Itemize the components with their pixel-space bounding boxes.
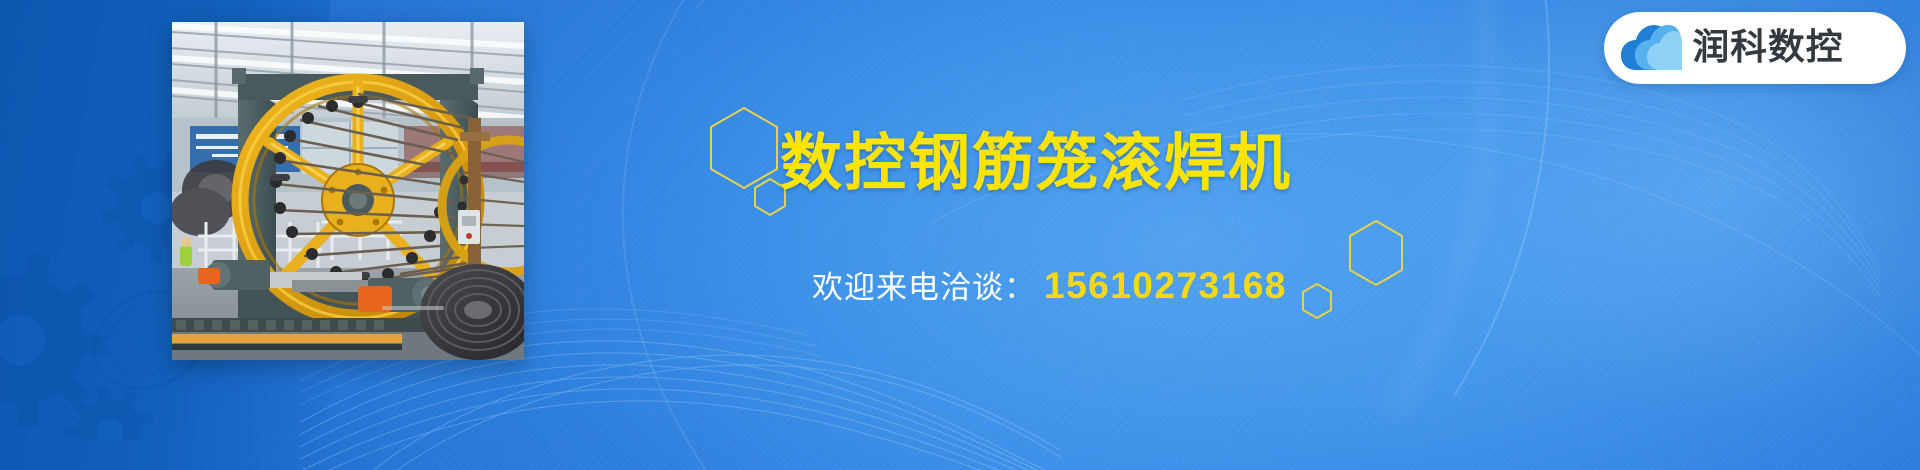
contact-line: 欢迎来电洽谈： 15610273168	[812, 262, 1287, 307]
hexagon-right-small-icon	[1300, 282, 1334, 320]
contact-phone-number[interactable]: 15610273168	[1044, 265, 1287, 307]
promo-banner: 数控钢筋笼滚焊机 欢迎来电洽谈： 15610273168 润科数控	[0, 0, 1920, 470]
wave-mesh-lines-right	[1180, 60, 1880, 420]
cnc-rebar-cage-welding-machine-photo	[172, 22, 524, 360]
page-title: 数控钢筋笼滚焊机	[780, 133, 1292, 195]
contact-label: 欢迎来电洽谈：	[812, 262, 1036, 307]
hexagon-right-large-icon	[1345, 218, 1407, 288]
brand-name: 润科数控	[1693, 30, 1844, 66]
brand-logo[interactable]: 润科数控	[1604, 12, 1906, 84]
product-photo	[172, 22, 524, 360]
cloud-droplet-mark-icon	[1620, 24, 1682, 72]
